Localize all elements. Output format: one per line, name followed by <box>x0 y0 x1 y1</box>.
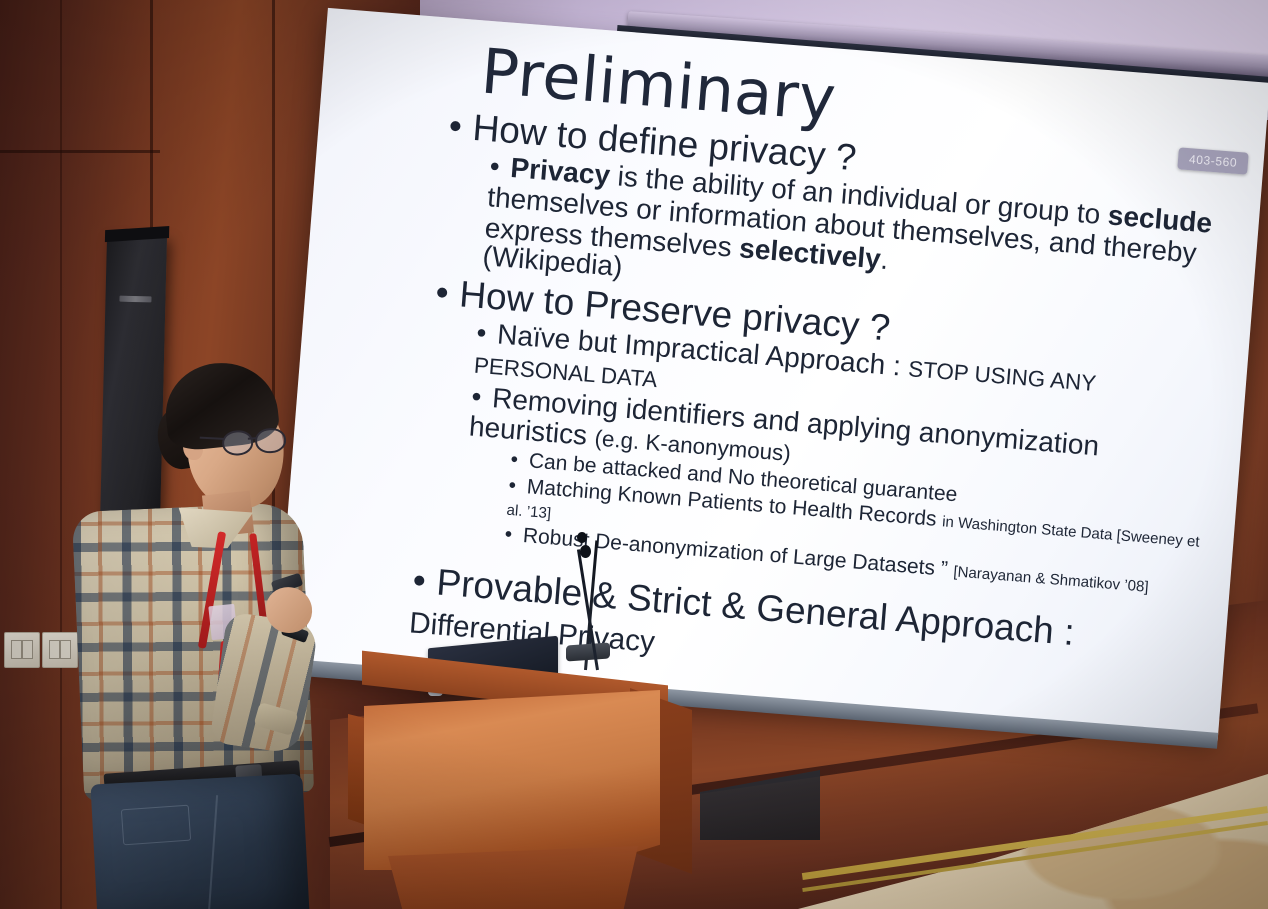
wall-seam <box>0 150 160 153</box>
speaker-top <box>105 226 169 242</box>
definition-part-c: . <box>879 243 889 275</box>
speaker-logo-top <box>119 296 151 303</box>
jeans-pocket <box>121 805 191 846</box>
bullet-glyph-icon: • <box>489 150 501 182</box>
presenter <box>60 355 350 909</box>
gooseneck-mic-capsule-icon <box>580 545 591 558</box>
presentation-photo-scene: Preliminary •How to define privacy ? •Pr… <box>0 0 1268 909</box>
bullet-glyph-icon: • <box>475 317 487 349</box>
bullet-glyph-icon: • <box>470 380 482 412</box>
light-switch-left[interactable] <box>4 632 40 668</box>
slide-content: Preliminary •How to define privacy ? •Pr… <box>276 8 1268 741</box>
bullet-glyph-icon: • <box>447 105 463 147</box>
bullet-glyph-icon: • <box>510 448 519 472</box>
bullet-glyph-icon: • <box>434 272 450 314</box>
microphone-base <box>566 642 610 661</box>
podium-base <box>388 846 638 909</box>
bullet-glyph-icon: • <box>508 474 517 498</box>
podium-front-panel <box>364 690 660 870</box>
podium <box>352 660 692 909</box>
bullet-glyph-icon: • <box>504 522 513 546</box>
bullet-glyph-icon: • <box>411 560 427 602</box>
microphone-head-icon <box>577 532 587 543</box>
